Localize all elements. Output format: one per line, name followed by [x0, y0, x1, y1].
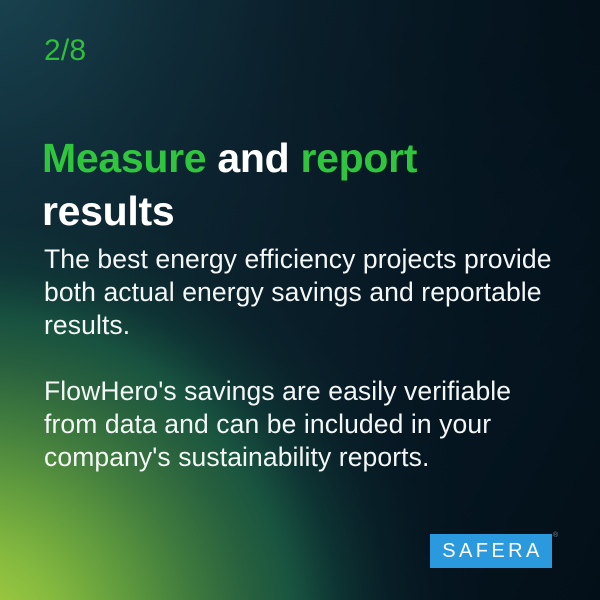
body-copy: The best energy efficiency projects prov…	[44, 243, 560, 474]
registered-trademark-icon: ®	[553, 532, 558, 539]
safera-logo-wordmark: SAFERA	[439, 541, 542, 561]
headline-segment-3: report	[300, 135, 417, 181]
slide-content: 2/8 Measure and report results The best …	[0, 0, 600, 600]
safera-logo: SAFERA	[430, 534, 552, 568]
headline-segment-1: Measure	[42, 135, 206, 181]
headline-segment-2: and	[206, 135, 300, 181]
headline-segment-4: results	[42, 188, 174, 234]
promo-slide: 2/8 Measure and report results The best …	[0, 0, 600, 600]
slide-counter: 2/8	[44, 36, 86, 66]
page-title: Measure and report results	[42, 132, 542, 237]
body-paragraph-1: The best energy efficiency projects prov…	[44, 243, 560, 342]
body-paragraph-2: FlowHero's savings are easily verifiable…	[44, 375, 560, 474]
